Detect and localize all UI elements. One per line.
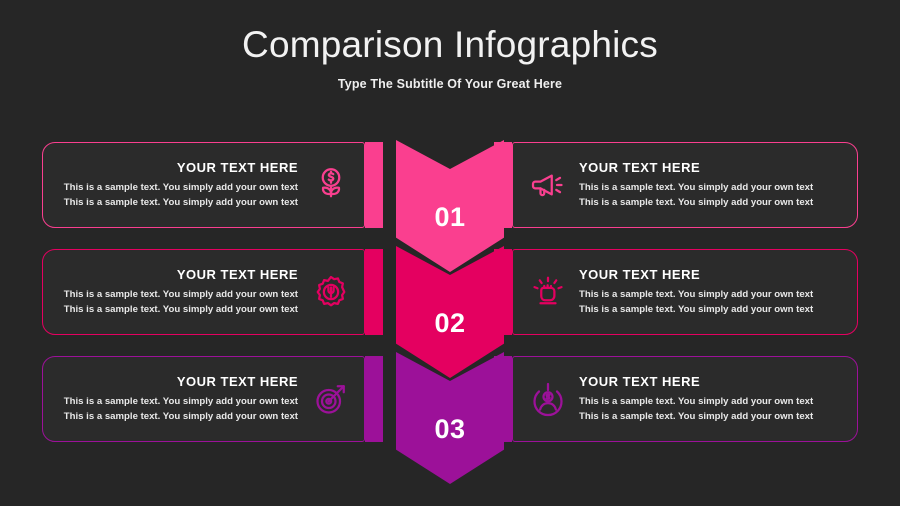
panel-left-1[interactable]: YOUR TEXT HERE This is a sample text. Yo… [42,142,365,228]
row-1-left-cap [365,142,383,228]
slide-header: Comparison Infographics Type The Subtitl… [0,22,900,91]
panel-left-1-line2: This is a sample text. You simply add yo… [64,195,298,211]
chevron-number-2: 02 [396,308,504,339]
row-2-left-cap [365,249,383,335]
page-subtitle: Type The Subtitle Of Your Great Here [0,77,900,91]
panel-left-1-text: YOUR TEXT HERE This is a sample text. Yo… [64,160,298,211]
panel-left-3-heading: YOUR TEXT HERE [177,374,298,389]
megaphone-icon [527,164,569,206]
panel-right-3[interactable]: YOUR TEXT HERE This is a sample text. Yo… [512,356,858,442]
panel-right-1-heading: YOUR TEXT HERE [579,160,700,175]
gear-wrench-icon [310,271,352,313]
page-title: Comparison Infographics [0,22,900,68]
panel-right-2-text: YOUR TEXT HERE This is a sample text. Yo… [579,267,813,318]
panel-left-3[interactable]: YOUR TEXT HERE This is a sample text. Yo… [42,356,365,442]
panel-right-1[interactable]: YOUR TEXT HERE This is a sample text. Yo… [512,142,858,228]
target-arrow-icon [310,378,352,420]
row-3-left-cap [365,356,383,442]
infographic-slide: Comparison Infographics Type The Subtitl… [0,0,900,506]
panel-left-3-line2: This is a sample text. You simply add yo… [64,409,298,425]
panel-left-2-line1: This is a sample text. You simply add yo… [64,287,298,303]
chevron-step-column: 01 02 03 [396,140,504,485]
panel-right-2[interactable]: YOUR TEXT HERE This is a sample text. Yo… [512,249,858,335]
panel-right-3-line2: This is a sample text. You simply add yo… [579,409,813,425]
raised-fist-icon [527,271,569,313]
panel-right-2-line2: This is a sample text. You simply add yo… [579,302,813,318]
panel-left-2-text: YOUR TEXT HERE This is a sample text. Yo… [64,267,298,318]
panel-left-1-line1: This is a sample text. You simply add yo… [64,180,298,196]
panel-right-3-heading: YOUR TEXT HERE [579,374,700,389]
money-plant-icon [310,164,352,206]
panel-left-2-heading: YOUR TEXT HERE [177,267,298,282]
chevron-number-1: 01 [396,202,504,233]
panel-right-2-heading: YOUR TEXT HERE [579,267,700,282]
panel-left-3-line1: This is a sample text. You simply add yo… [64,394,298,410]
panel-right-1-text: YOUR TEXT HERE This is a sample text. Yo… [579,160,813,211]
panel-right-3-text: YOUR TEXT HERE This is a sample text. Yo… [579,374,813,425]
panel-left-2-line2: This is a sample text. You simply add yo… [64,302,298,318]
user-dollar-icon [527,378,569,420]
panel-right-1-line2: This is a sample text. You simply add yo… [579,195,813,211]
panel-left-3-text: YOUR TEXT HERE This is a sample text. Yo… [64,374,298,425]
panel-right-1-line1: This is a sample text. You simply add yo… [579,180,813,196]
panel-right-2-line1: This is a sample text. You simply add yo… [579,287,813,303]
chevron-number-3: 03 [396,414,504,445]
panel-left-1-heading: YOUR TEXT HERE [177,160,298,175]
panel-left-2[interactable]: YOUR TEXT HERE This is a sample text. Yo… [42,249,365,335]
panel-right-3-line1: This is a sample text. You simply add yo… [579,394,813,410]
